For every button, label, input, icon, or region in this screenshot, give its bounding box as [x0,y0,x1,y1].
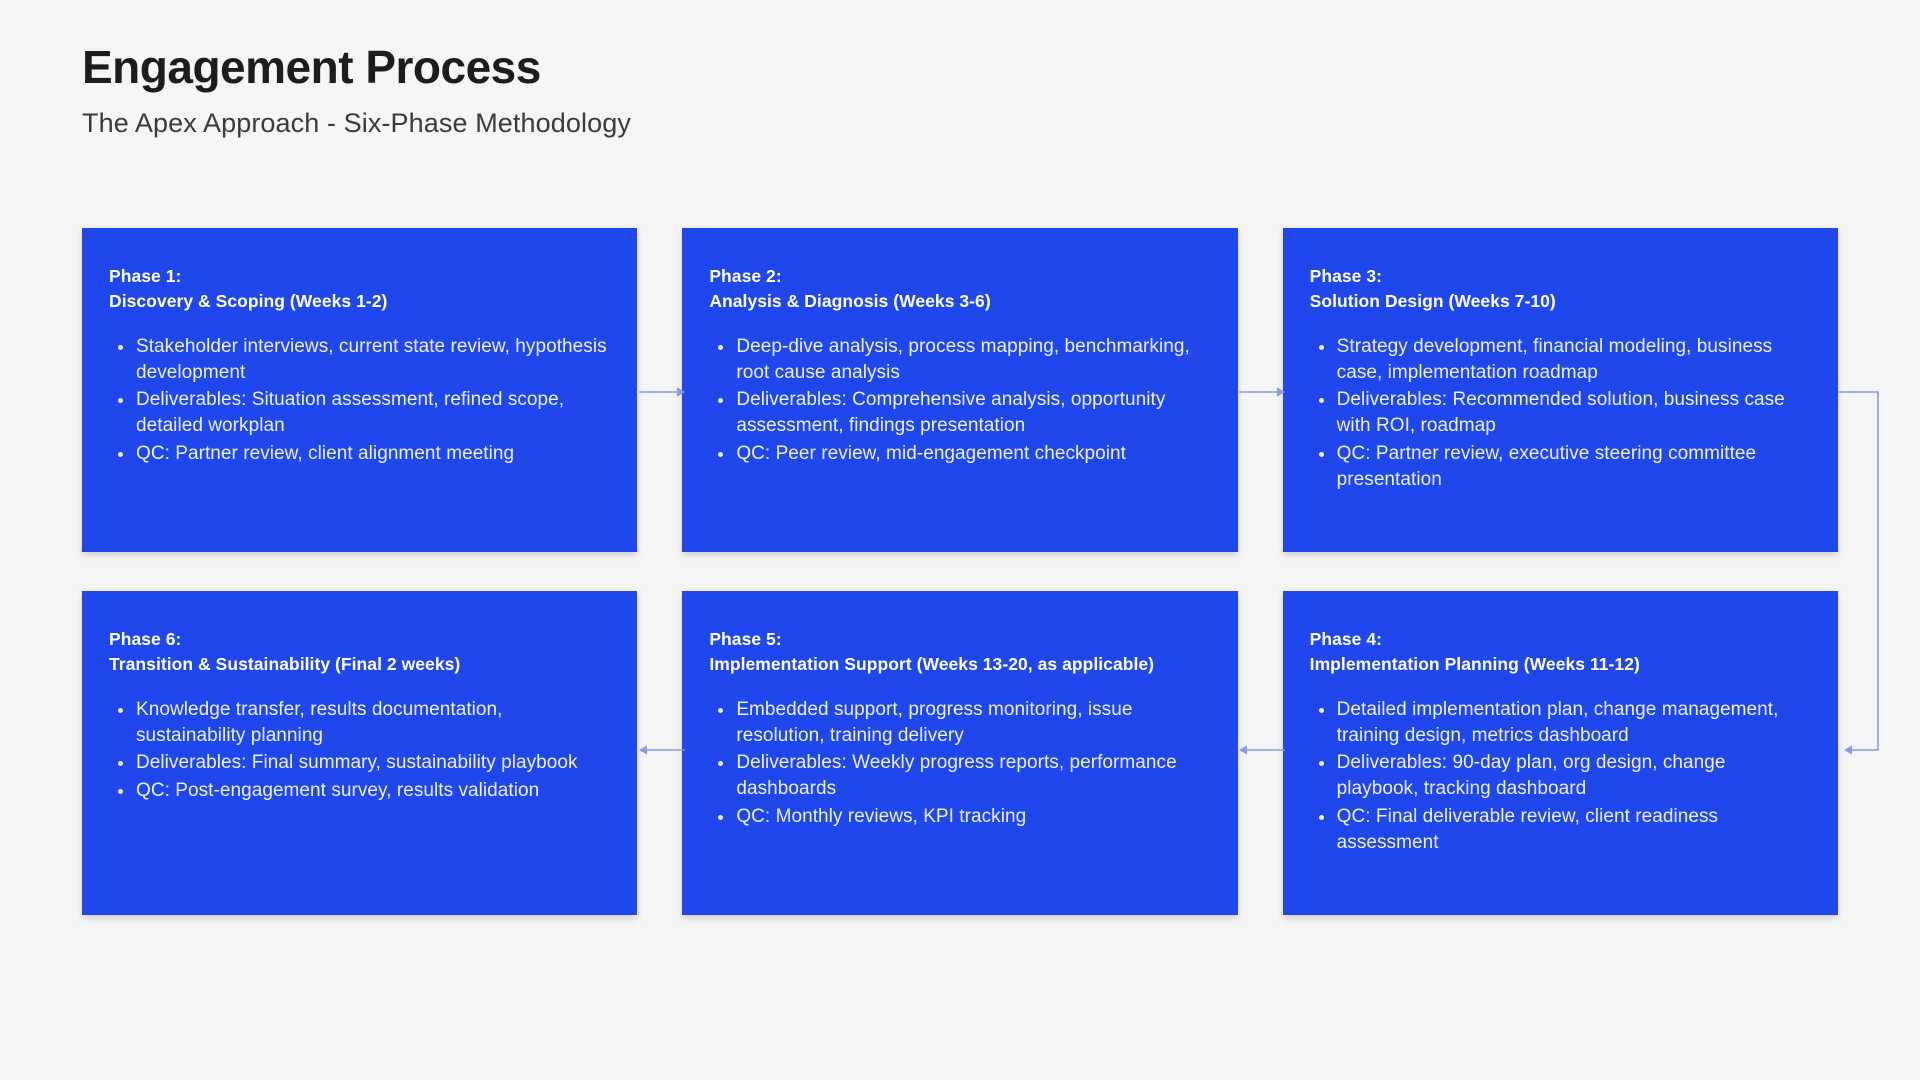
phase-card-1-label: Phase 1: [109,266,181,286]
phase-card-4-name: Implementation Planning (Weeks 11-12) [1310,652,1808,677]
phase-card-6-label: Phase 6: [109,629,181,649]
phase-card-2[interactable]: Phase 2: Analysis & Diagnosis (Weeks 3-6… [682,228,1237,552]
list-item: QC: Peer review, mid-engagement checkpoi… [709,441,1207,467]
phase-card-6-heading: Phase 6: Transition & Sustainability (Fi… [109,627,607,677]
phase-card-4-heading: Phase 4: Implementation Planning (Weeks … [1310,627,1808,677]
phase-card-6-name: Transition & Sustainability (Final 2 wee… [109,652,607,677]
phase-card-1-name: Discovery & Scoping (Weeks 1-2) [109,289,607,314]
phase-card-2-name: Analysis & Diagnosis (Weeks 3-6) [709,289,1207,314]
phase-card-5[interactable]: Phase 5: Implementation Support (Weeks 1… [682,591,1237,915]
list-item: Deliverables: Situation assessment, refi… [109,387,607,439]
phase-card-6[interactable]: Phase 6: Transition & Sustainability (Fi… [82,591,637,915]
list-item: Deliverables: 90-day plan, org design, c… [1310,750,1808,802]
list-item: Stakeholder interviews, current state re… [109,334,607,386]
phase-card-1-heading: Phase 1: Discovery & Scoping (Weeks 1-2) [109,264,607,314]
slide-canvas: Engagement Process The Apex Approach - S… [0,0,1920,1080]
phase-card-2-bullets: Deep-dive analysis, process mapping, ben… [709,334,1207,469]
connector-phase3-to-phase4 [1838,385,1898,757]
phase-card-5-name: Implementation Support (Weeks 13-20, as … [709,652,1207,677]
list-item: Strategy development, financial modeling… [1310,334,1808,386]
phase-card-2-heading: Phase 2: Analysis & Diagnosis (Weeks 3-6… [709,264,1207,314]
phase-card-6-bullets: Knowledge transfer, results documentatio… [109,697,607,806]
phase-card-4[interactable]: Phase 4: Implementation Planning (Weeks … [1283,591,1838,915]
phase-card-1[interactable]: Phase 1: Discovery & Scoping (Weeks 1-2)… [82,228,637,552]
phase-card-5-label: Phase 5: [709,629,781,649]
arrow-wrap-down-icon [1838,385,1898,757]
phase-row-bottom: Phase 6: Transition & Sustainability (Fi… [82,591,1838,915]
list-item: Embedded support, progress monitoring, i… [709,697,1207,749]
list-item: QC: Final deliverable review, client rea… [1310,804,1808,856]
phase-card-3-bullets: Strategy development, financial modeling… [1310,334,1808,495]
phase-card-3-heading: Phase 3: Solution Design (Weeks 7-10) [1310,264,1808,314]
slide-header: Engagement Process The Apex Approach - S… [82,42,631,139]
phase-row-top: Phase 1: Discovery & Scoping (Weeks 1-2)… [82,228,1838,552]
phase-card-2-label: Phase 2: [709,266,781,286]
list-item: Knowledge transfer, results documentatio… [109,697,607,749]
list-item: QC: Partner review, client alignment mee… [109,441,607,467]
list-item: Detailed implementation plan, change man… [1310,697,1808,749]
phase-card-1-bullets: Stakeholder interviews, current state re… [109,334,607,469]
phase-grid: Phase 1: Discovery & Scoping (Weeks 1-2)… [82,228,1838,915]
list-item: Deliverables: Recommended solution, busi… [1310,387,1808,439]
list-item: Deep-dive analysis, process mapping, ben… [709,334,1207,386]
phase-card-5-heading: Phase 5: Implementation Support (Weeks 1… [709,627,1207,677]
list-item: QC: Partner review, executive steering c… [1310,441,1808,493]
page-subtitle: The Apex Approach - Six-Phase Methodolog… [82,107,631,139]
list-item: Deliverables: Final summary, sustainabil… [109,750,607,776]
list-item: QC: Monthly reviews, KPI tracking [709,804,1207,830]
list-item: QC: Post-engagement survey, results vali… [109,778,607,804]
page-title: Engagement Process [82,42,631,93]
phase-card-5-bullets: Embedded support, progress monitoring, i… [709,697,1207,832]
phase-card-3[interactable]: Phase 3: Solution Design (Weeks 7-10) St… [1283,228,1838,552]
phase-card-3-label: Phase 3: [1310,266,1382,286]
phase-card-3-name: Solution Design (Weeks 7-10) [1310,289,1808,314]
list-item: Deliverables: Comprehensive analysis, op… [709,387,1207,439]
phase-card-4-bullets: Detailed implementation plan, change man… [1310,697,1808,858]
phase-card-4-label: Phase 4: [1310,629,1382,649]
list-item: Deliverables: Weekly progress reports, p… [709,750,1207,802]
